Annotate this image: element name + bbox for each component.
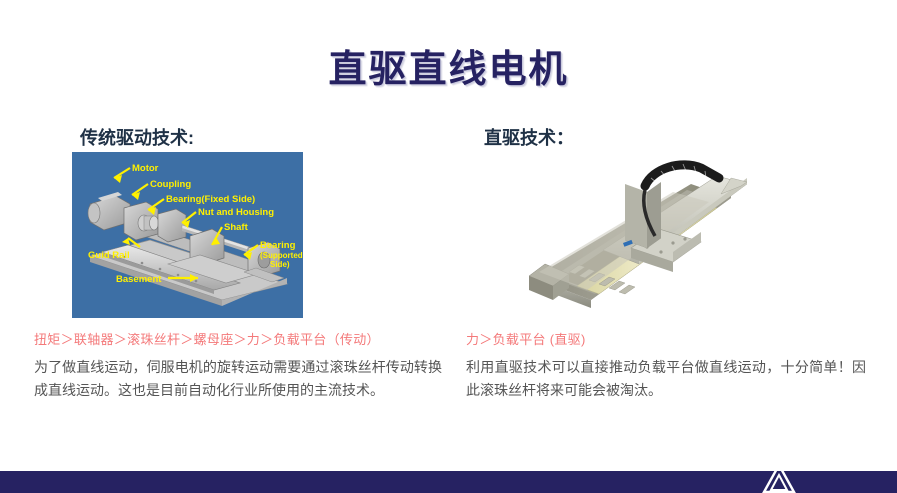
right-body-text: 利用直驱技术可以直接推动负载平台做直线运动，十分简单！因此滚珠丝杆将来可能会被淘… [466, 356, 866, 401]
figure-label-guid-rail: Guid Rail [88, 250, 130, 261]
right-column-heading: 直驱技术： [484, 124, 574, 150]
figure-label-shaft: Shaft [224, 222, 249, 233]
figure-label-coupling: Coupling [150, 179, 191, 190]
figure-label-basement: Basement [116, 274, 162, 285]
figure-label-bearing-fixed: Bearing(Fixed Side) [166, 194, 255, 205]
left-force-chain-caption: 扭矩＞联轴器＞滚珠丝杆＞螺母座＞力＞负载平台（传动） [34, 329, 380, 348]
svg-text:Side): Side) [270, 260, 290, 269]
left-column-heading: 传统驱动技术: [80, 124, 194, 150]
traditional-drive-diagram: Motor Coupling Bearing(Fixed Side) Nut a… [72, 152, 303, 318]
right-force-chain-caption: 力＞负载平台 (直驱) [466, 329, 586, 348]
left-body-text: 为了做直线运动，伺服电机的旋转运动需要通过滚珠丝杆传动转换成直线运动。这也是目前… [34, 356, 442, 401]
slide-root: 直驱直线电机 传统驱动技术: [0, 0, 897, 493]
page-title: 直驱直线电机 [0, 38, 897, 93]
direct-drive-photo [495, 150, 757, 318]
svg-text:(Supported: (Supported [260, 251, 303, 260]
figure-label-bearing-supported: Bearing [260, 240, 296, 251]
delta-triangle-logo-icon [762, 463, 796, 493]
figure-label-motor: Motor [132, 163, 159, 174]
figure-label-nut-housing: Nut and Housing [198, 207, 274, 218]
